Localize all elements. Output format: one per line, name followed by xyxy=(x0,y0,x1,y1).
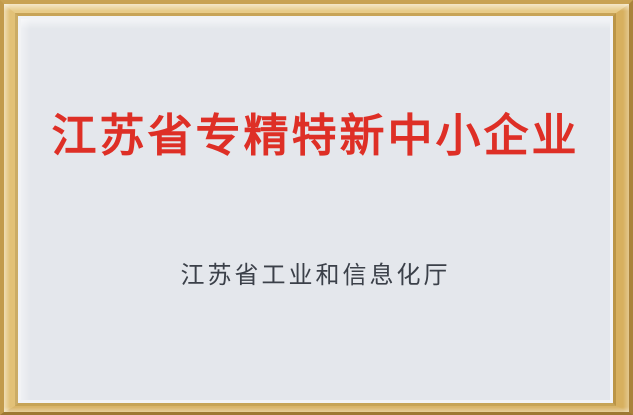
panel-shading xyxy=(21,19,610,400)
plaque-title: 江苏省专精特新中小企业 xyxy=(21,111,610,161)
award-plaque: 江苏省专精特新中小企业 江苏省工业和信息化厅 xyxy=(0,0,633,415)
plaque-issuer: 江苏省工业和信息化厅 xyxy=(21,262,610,291)
plaque-panel: 江苏省专精特新中小企业 江苏省工业和信息化厅 xyxy=(21,19,610,400)
